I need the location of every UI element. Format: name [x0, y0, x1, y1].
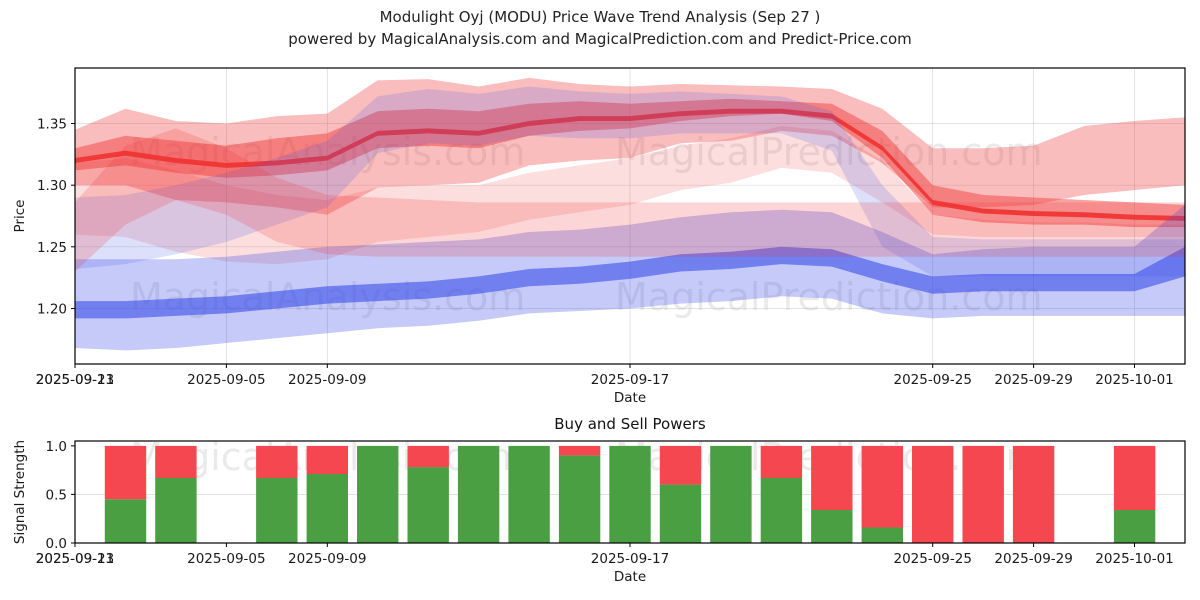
sell-power-bar: [862, 446, 903, 528]
x-tick-label: 2025-09-21: [36, 551, 114, 567]
x-tick-label: 2025-09-09: [288, 551, 366, 567]
sell-power-bar: [559, 446, 600, 456]
buy-power-bar: [458, 446, 499, 543]
chart-canvas: MagicalAnalysis.comMagicalPrediction.com…: [0, 0, 1200, 600]
powers-subplot-title: Buy and Sell Powers: [554, 415, 706, 433]
x-tick-label: 2025-09-29: [994, 551, 1072, 567]
buy-power-bar: [155, 478, 196, 543]
x-axis-title-price: Date: [614, 390, 646, 406]
chart-page: Modulight Oyj (MODU) Price Wave Trend An…: [0, 0, 1200, 600]
sell-power-bar: [105, 446, 146, 499]
y-tick-label: 1.0: [46, 439, 67, 455]
buy-power-bar: [1114, 510, 1155, 543]
x-tick-label: 2025-09-05: [187, 372, 265, 388]
sell-power-bar: [761, 446, 802, 478]
y-axis-title-powers: Signal Strength: [12, 440, 28, 544]
sell-power-bar: [811, 446, 852, 510]
x-tick-label: 2025-09-25: [893, 372, 971, 388]
buy-power-bar: [862, 528, 903, 544]
y-tick-label: 1.20: [37, 302, 67, 318]
y-tick-label: 1.25: [37, 240, 67, 256]
buy-power-bar: [559, 456, 600, 543]
buy-power-bar: [609, 446, 650, 543]
sell-power-bar: [256, 446, 297, 478]
sell-power-bar: [1013, 446, 1054, 543]
y-tick-label: 1.30: [37, 178, 67, 194]
buy-power-bar: [508, 446, 549, 543]
sell-power-bar: [963, 446, 1004, 543]
buy-power-bar: [811, 510, 852, 543]
x-tick-label: 2025-09-17: [591, 372, 669, 388]
buy-power-bar: [256, 478, 297, 543]
buy-power-bar: [761, 478, 802, 543]
x-tick-label: 2025-09-09: [288, 372, 366, 388]
sell-power-bar: [1114, 446, 1155, 510]
x-tick-label: 2025-09-29: [994, 372, 1072, 388]
sell-power-bar: [155, 446, 196, 478]
x-tick-label: 2025-09-25: [893, 551, 971, 567]
x-tick-label: 2025-09-05: [187, 551, 265, 567]
buy-power-bar: [307, 474, 348, 543]
buy-power-bar: [105, 499, 146, 543]
x-tick-label: 2025-10-01: [1095, 372, 1173, 388]
buy-power-bar: [357, 446, 398, 543]
x-tick-label: 2025-09-21: [36, 372, 114, 388]
buy-power-bar: [710, 446, 751, 543]
sell-power-bar: [408, 446, 449, 467]
sell-power-bar: [660, 446, 701, 485]
y-axis-title-price: Price: [12, 200, 28, 233]
x-tick-label: 2025-10-01: [1095, 551, 1173, 567]
y-tick-label: 0.5: [46, 487, 67, 503]
y-tick-label: 0.0: [46, 536, 67, 552]
sell-power-bar: [912, 446, 953, 543]
sell-power-bar: [307, 446, 348, 474]
x-tick-label: 2025-09-17: [591, 551, 669, 567]
buy-power-bar: [408, 467, 449, 543]
y-tick-label: 1.35: [37, 117, 67, 133]
x-axis-title-powers: Date: [614, 569, 646, 585]
buy-power-bar: [660, 485, 701, 543]
